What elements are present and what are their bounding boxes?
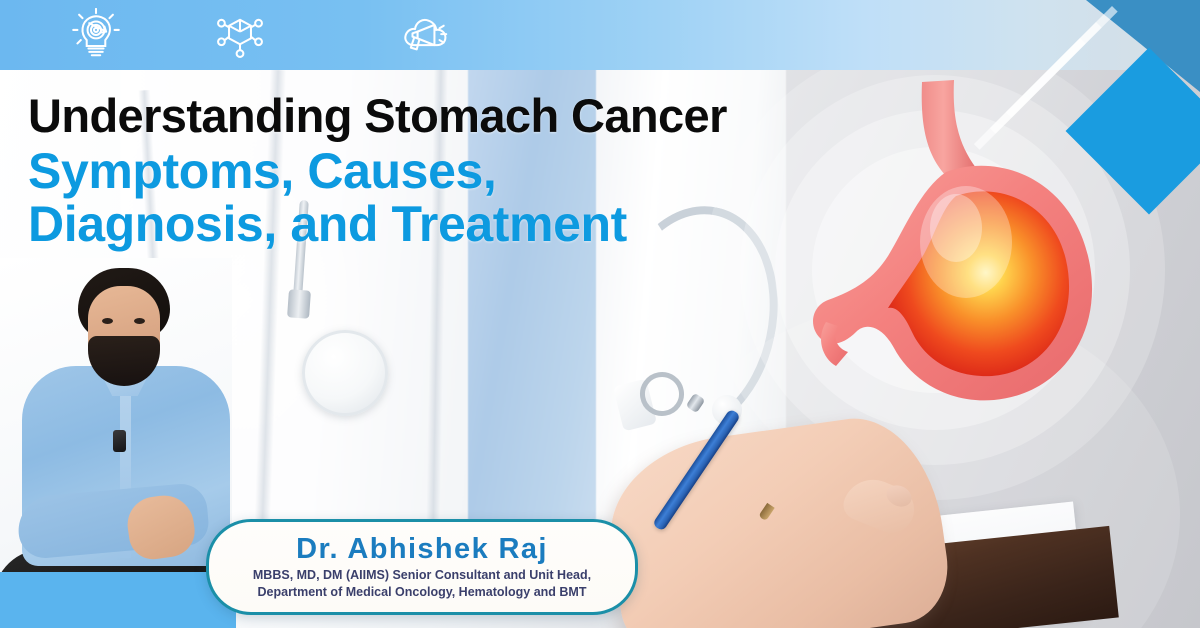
cloud-megaphone-icon <box>398 8 454 62</box>
title-line-3: Diagnosis, and Treatment <box>28 198 958 251</box>
doctor-name: Dr. Abhishek Raj <box>296 534 548 564</box>
lapel-microphone <box>113 430 126 452</box>
credentials-line-1: MBBS, MD, DM (AIIMS) Senior Consultant a… <box>253 568 591 582</box>
stethoscope-chestpiece <box>302 330 388 416</box>
lightbulb-target-icon <box>68 8 124 62</box>
bottom-blue-bar <box>0 572 236 628</box>
title-line-1: Understanding Stomach Cancer <box>28 92 958 139</box>
top-banner <box>0 0 1200 70</box>
doctor-name-card: Dr. Abhishek Raj MBBS, MD, DM (AIIMS) Se… <box>206 519 638 615</box>
doctor-eye-right <box>134 318 145 324</box>
network-cube-icon <box>212 8 268 62</box>
stethoscope-connector <box>287 289 311 318</box>
doctor-eye-left <box>102 318 113 324</box>
infographic-canvas: Understanding Stomach Cancer Symptoms, C… <box>0 0 1200 628</box>
doctor-credentials: MBBS, MD, DM (AIIMS) Senior Consultant a… <box>253 567 591 601</box>
title-line-2: Symptoms, Causes, <box>28 145 958 198</box>
title-block: Understanding Stomach Cancer Symptoms, C… <box>28 92 958 251</box>
credentials-line-2: Department of Medical Oncology, Hematolo… <box>258 585 587 599</box>
